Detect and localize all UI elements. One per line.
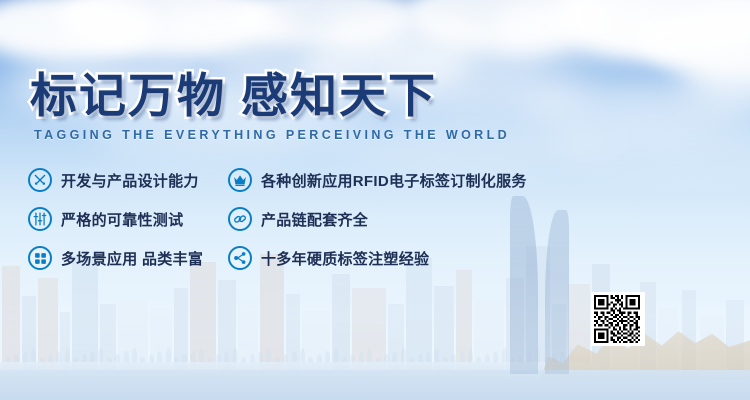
tools-icon — [28, 168, 52, 192]
feature-label: 多场景应用 品类丰富 — [61, 248, 203, 269]
feature-item-rfid-customization: 各种创新应用RFID电子标签订制化服务 — [228, 168, 588, 192]
grid-icon — [28, 246, 52, 270]
promo-banner: 标记万物 感知天下 TAGGING THE EVERYTHING PERCEIV… — [0, 0, 750, 400]
cloud — [430, 28, 560, 74]
feature-label: 各种创新应用RFID电子标签订制化服务 — [261, 170, 527, 191]
headline-tagline: TAGGING THE EVERYTHING PERCEIVING THE WO… — [34, 128, 510, 142]
headline-title: 标记万物 感知天下 — [30, 72, 510, 119]
share-icon — [228, 246, 252, 270]
crown-icon — [228, 168, 252, 192]
feature-label: 开发与产品设计能力 — [61, 170, 199, 191]
feature-item-development: 开发与产品设计能力 — [28, 168, 228, 192]
landmark-tower — [545, 210, 569, 374]
feature-row: 严格的可靠性测试 产品链配套齐全 — [28, 207, 588, 231]
qr-code-canvas — [594, 295, 642, 343]
waterfront — [0, 370, 750, 400]
feature-label: 产品链配套齐全 — [261, 209, 368, 230]
link-icon — [228, 207, 252, 231]
feature-row: 多场景应用 品类丰富 十多年硬质标签注塑经验 — [28, 246, 588, 270]
feature-item-multi-scenario: 多场景应用 品类丰富 — [28, 246, 228, 270]
feature-label: 十多年硬质标签注塑经验 — [261, 248, 429, 269]
sliders-icon — [28, 207, 52, 231]
qr-code[interactable] — [591, 292, 645, 346]
headline-block: 标记万物 感知天下 TAGGING THE EVERYTHING PERCEIV… — [30, 72, 510, 142]
feature-list: 开发与产品设计能力 各种创新应用RFID电子标签订制化服务 — [28, 168, 588, 285]
feature-item-reliability-testing: 严格的可靠性测试 — [28, 207, 228, 231]
feature-label: 严格的可靠性测试 — [61, 209, 183, 230]
feature-row: 开发与产品设计能力 各种创新应用RFID电子标签订制化服务 — [28, 168, 588, 192]
